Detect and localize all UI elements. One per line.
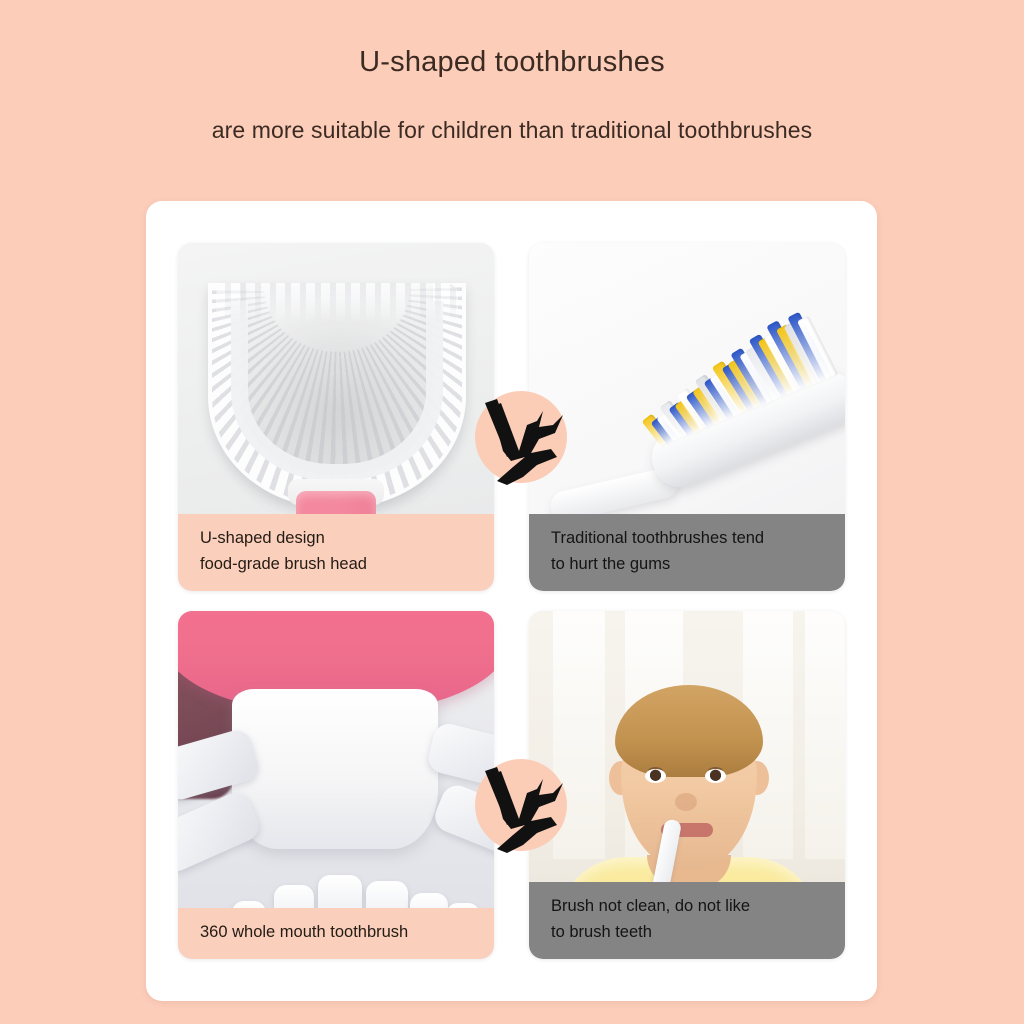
caption-u-shaped-brush-head: U-shaped design food-grade brush head [178,514,494,591]
comparison-card: U-shaped design food-grade brush head Tr… [146,201,877,1001]
comparison-grid: U-shaped design food-grade brush head Tr… [178,243,845,959]
photo-whole-mouth-coverage [178,611,494,959]
caption-line: food-grade brush head [200,551,476,578]
panel-u-shaped-brush-head[interactable]: U-shaped design food-grade brush head [178,243,494,591]
caption-traditional-toothbrush: Traditional toothbrushes tend to hurt th… [529,514,845,591]
panel-whole-mouth-coverage[interactable]: 360 whole mouth toothbrush [178,611,494,959]
subheadline: are more suitable for children than trad… [0,117,1024,144]
vs-badge-top [475,391,567,483]
headline: U-shaped toothbrushes [0,46,1024,79]
caption-line: U-shaped design [200,525,476,552]
caption-line: to hurt the gums [551,551,827,578]
caption-line: Brush not clean, do not like [551,893,827,920]
caption-line: Traditional toothbrushes tend [551,525,827,552]
caption-whole-mouth-coverage: 360 whole mouth toothbrush [178,908,494,959]
caption-child-dislikes-brushing: Brush not clean, do not like to brush te… [529,882,845,959]
caption-line: 360 whole mouth toothbrush [200,919,476,946]
vs-badge-bottom [475,759,567,851]
caption-line: to brush teeth [551,919,827,946]
